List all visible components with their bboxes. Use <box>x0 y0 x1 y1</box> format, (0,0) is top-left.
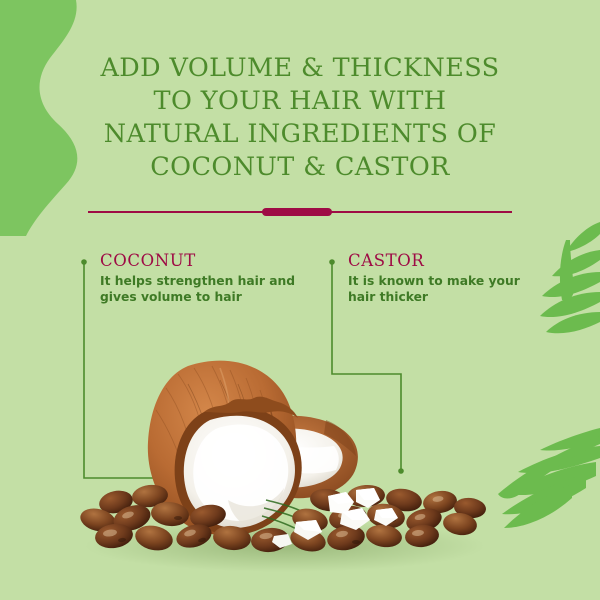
callout-coconut-title: COCONUT <box>100 251 295 270</box>
poster-canvas: ADD VOLUME & THICKNESS TO YOUR HAIR WITH… <box>0 0 600 600</box>
callout-coconut-desc-line-2: gives volume to hair <box>100 289 295 305</box>
callout-castor-description: It is known to make your hair thicker <box>348 273 520 305</box>
product-image-coconut-castor <box>70 350 500 580</box>
callout-castor-desc-line-1: It is known to make your <box>348 273 520 289</box>
callout-coconut-desc-line-1: It helps strengthen hair and <box>100 273 295 289</box>
connector-castor-start-dot <box>329 259 335 265</box>
callout-castor: CASTOR It is known to make your hair thi… <box>348 251 520 305</box>
callout-castor-desc-line-2: hair thicker <box>348 289 520 305</box>
callout-coconut-description: It helps strengthen hair and gives volum… <box>100 273 295 305</box>
connector-coconut-start-dot <box>81 259 87 265</box>
callout-castor-title: CASTOR <box>348 251 520 270</box>
callout-coconut: COCONUT It helps strengthen hair and giv… <box>100 251 295 305</box>
